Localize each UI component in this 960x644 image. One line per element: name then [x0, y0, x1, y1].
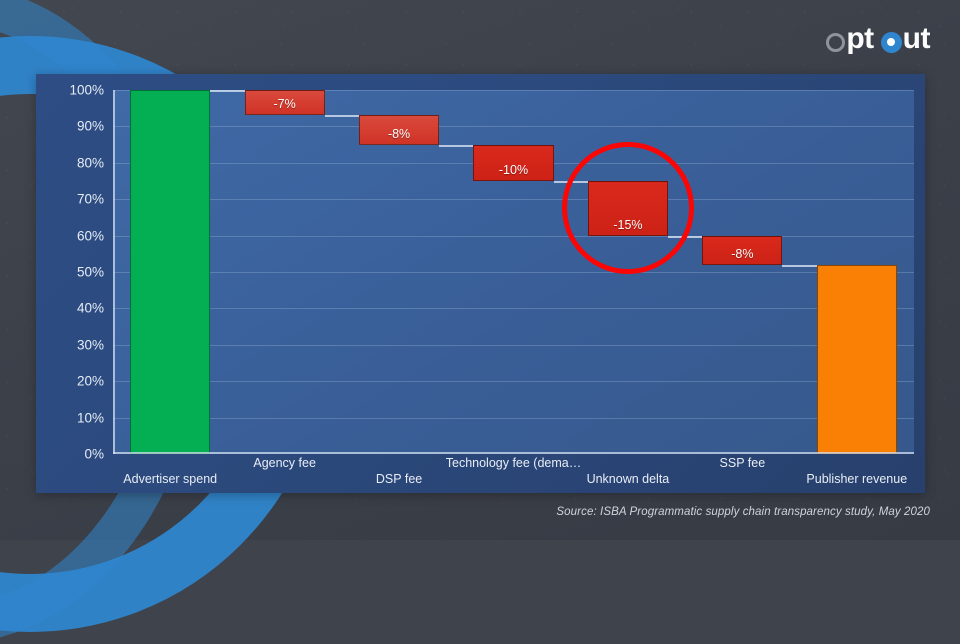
y-axis-tick-label: 90% [44, 119, 104, 134]
bar-5: -15% [588, 181, 668, 236]
logo-outline-circle-icon [826, 33, 845, 52]
bar-value-label: -8% [703, 247, 781, 261]
connector-line [210, 90, 244, 92]
bar-4: -10% [473, 145, 553, 181]
x-axis-tick-label: Agency fee [253, 456, 316, 470]
gridline [113, 308, 914, 309]
x-axis-tick-label: Advertiser spend [123, 472, 217, 486]
x-axis-tick-label: Unknown delta [587, 472, 670, 486]
x-axis-line [113, 452, 914, 454]
bar-value-label: -7% [246, 97, 324, 111]
connector-line [325, 115, 359, 117]
optout-logo: pt ut [826, 24, 930, 54]
x-axis-tick-label: SSP fee [720, 456, 766, 470]
connector-line [439, 145, 473, 147]
logo-text-out: ut [903, 24, 930, 54]
x-axis-tick-label: Publisher revenue [806, 472, 907, 486]
y-axis-line [113, 90, 115, 454]
plot-area: -7%-8%-10%-15%-8% [113, 90, 914, 454]
y-axis-tick-label: 30% [44, 337, 104, 352]
gridline [113, 126, 914, 127]
bar-2: -7% [245, 90, 325, 115]
logo-target-dot-icon [881, 32, 902, 53]
y-axis-tick-label: 20% [44, 374, 104, 389]
y-axis-tick-label: 0% [44, 447, 104, 462]
y-axis-tick-label: 100% [44, 83, 104, 98]
source-note: Source: ISBA Programmatic supply chain t… [556, 506, 930, 518]
gridline [113, 199, 914, 200]
connector-line [668, 236, 702, 238]
gridline [113, 236, 914, 237]
bar-3: -8% [359, 115, 439, 144]
y-axis-tick-label: 50% [44, 265, 104, 280]
bar-value-label: -15% [589, 218, 667, 232]
bar-6: -8% [702, 236, 782, 265]
y-axis-tick-label: 60% [44, 228, 104, 243]
y-axis-tick-label: 80% [44, 155, 104, 170]
logo-text-opt: pt [846, 24, 873, 54]
gridline [113, 345, 914, 346]
bar-7 [817, 265, 897, 454]
connector-line [554, 181, 588, 183]
connector-line [782, 265, 816, 267]
gridline [113, 418, 914, 419]
bar-1 [130, 90, 210, 454]
gridline [113, 272, 914, 273]
bar-value-label: -8% [360, 127, 438, 141]
y-axis-tick-label: 40% [44, 301, 104, 316]
y-axis-tick-label: 70% [44, 192, 104, 207]
chart-panel: 0%10%20%30%40%50%60%70%80%90%100% -7%-8%… [36, 74, 925, 493]
bar-value-label: -10% [474, 163, 552, 177]
x-axis-tick-label: DSP fee [376, 472, 422, 486]
gridline [113, 381, 914, 382]
y-axis-tick-label: 10% [44, 410, 104, 425]
x-axis-tick-label: Technology fee (dema… [446, 456, 582, 470]
